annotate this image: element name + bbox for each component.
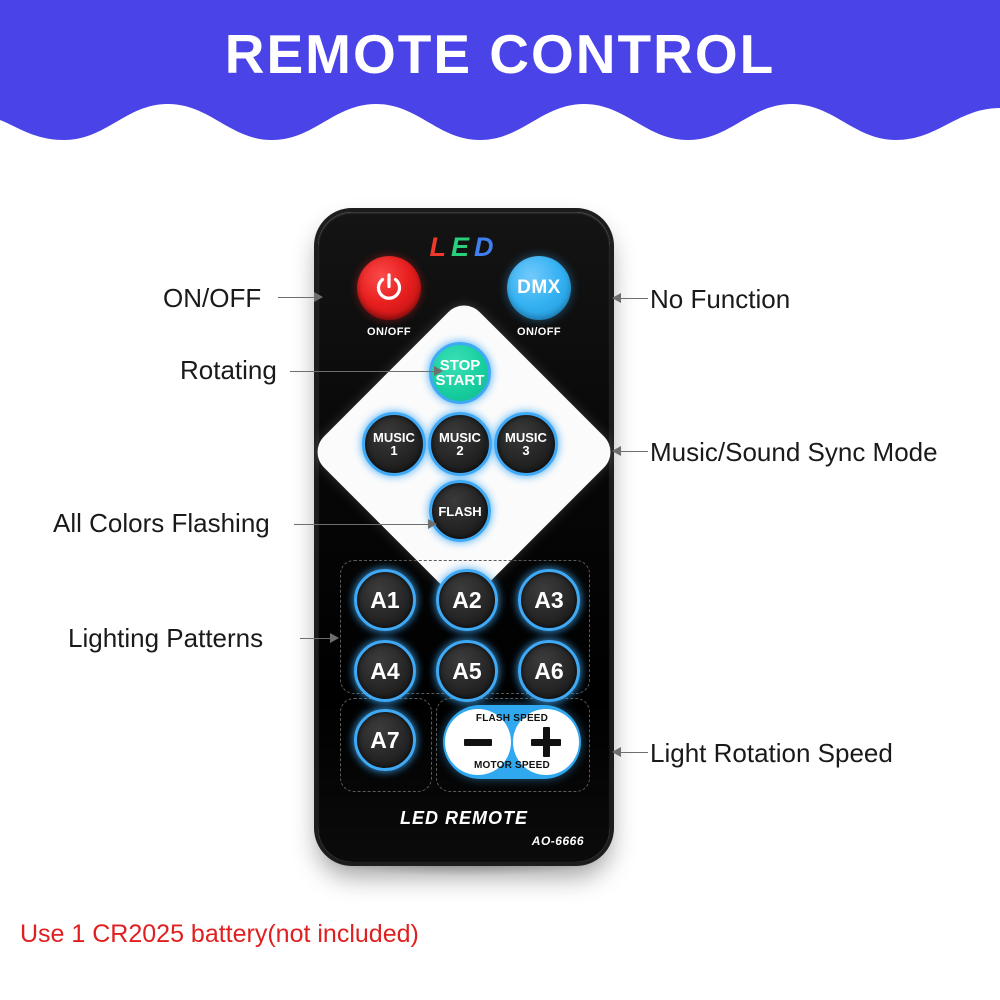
header-banner: REMOTE CONTROL [0, 0, 1000, 150]
arrow-icon-rotating [434, 366, 443, 376]
motor-speed-label: MOTOR SPEED [443, 760, 581, 771]
led-logo-letter-e: E [451, 232, 474, 263]
callout-all-colors-flashing: All Colors Flashing [53, 508, 270, 539]
callout-music-sound-sync-mode: Music/Sound Sync Mode [650, 437, 938, 468]
battery-note: Use 1 CR2025 battery(not included) [20, 920, 419, 949]
music-3-line2: 3 [522, 444, 529, 457]
power-button-label: ON/OFF [357, 326, 421, 338]
remote-model-text: AO-6666 [532, 834, 584, 848]
speed-control-pad: FLASH SPEED MOTOR SPEED [443, 705, 581, 779]
leader-line-all-colors-flashing [294, 524, 434, 525]
leader-line-light-rotation-speed [620, 752, 648, 753]
stop-start-line1: STOP [440, 358, 481, 373]
music-2-line2: 2 [456, 444, 463, 457]
power-on-off-button[interactable] [357, 256, 421, 320]
dmx-button-label: ON/OFF [507, 326, 571, 338]
pattern-button-a2[interactable]: A2 [436, 569, 498, 631]
dmx-button[interactable]: DMX [507, 256, 571, 320]
pattern-button-a6[interactable]: A6 [518, 640, 580, 702]
pattern-button-a7[interactable]: A7 [354, 709, 416, 771]
callout-lighting-patterns: Lighting Patterns [68, 623, 263, 654]
led-logo-letter-l: L [429, 232, 451, 263]
leader-line-no-function [620, 298, 648, 299]
page-title: REMOTE CONTROL [0, 22, 1000, 86]
callout-on-off: ON/OFF [163, 283, 261, 314]
callout-no-function: No Function [650, 284, 790, 315]
remote-control-device: LED ON/OFF DMX ON/OFF STOP START MUSIC 1… [318, 212, 610, 862]
music-1-button[interactable]: MUSIC 1 [362, 412, 426, 476]
pattern-button-a5[interactable]: A5 [436, 640, 498, 702]
led-logo: LED [318, 232, 610, 263]
callout-rotating: Rotating [180, 355, 277, 386]
leader-line-music-sync [620, 451, 648, 452]
page-root: REMOTE CONTROL LED ON/OFF DMX ON/OFF STO… [0, 0, 1000, 1000]
arrow-icon-on-off [314, 292, 323, 302]
leader-line-rotating [290, 371, 440, 372]
arrow-icon-all-colors-flashing [428, 519, 437, 529]
music-1-line2: 1 [390, 444, 397, 457]
pattern-button-a4[interactable]: A4 [354, 640, 416, 702]
minus-icon [464, 739, 492, 746]
music-3-button[interactable]: MUSIC 3 [494, 412, 558, 476]
pattern-button-a1[interactable]: A1 [354, 569, 416, 631]
music-2-button[interactable]: MUSIC 2 [428, 412, 492, 476]
callout-light-rotation-speed: Light Rotation Speed [650, 738, 893, 769]
plus-icon [531, 727, 561, 757]
flash-speed-label: FLASH SPEED [443, 713, 581, 724]
flash-button[interactable]: FLASH [429, 480, 491, 542]
remote-brand-text: LED REMOTE [318, 808, 610, 829]
led-logo-letter-d: D [474, 232, 499, 263]
power-icon [372, 271, 406, 305]
arrow-icon-lighting-patterns [330, 633, 339, 643]
pattern-button-a3[interactable]: A3 [518, 569, 580, 631]
